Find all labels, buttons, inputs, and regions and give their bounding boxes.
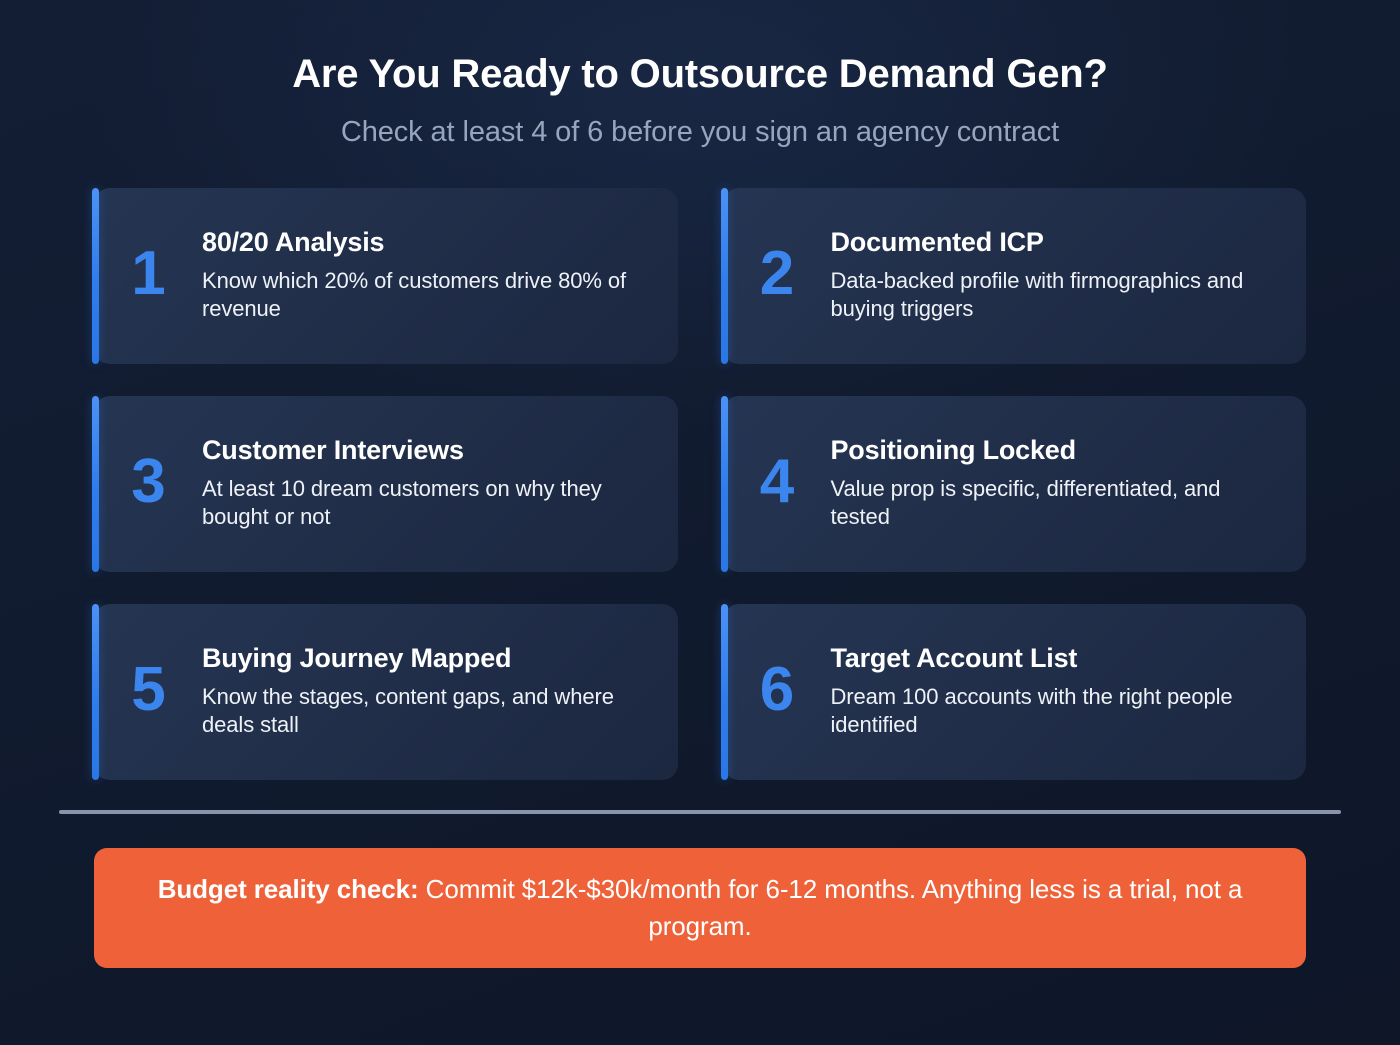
header: Are You Ready to Outsource Demand Gen? C… <box>0 0 1400 150</box>
card-title: Positioning Locked <box>831 435 1277 466</box>
card-body: Buying Journey Mapped Know the stages, c… <box>202 643 654 740</box>
budget-banner: Budget reality check: Commit $12k-$30k/m… <box>94 848 1306 968</box>
card-body: Documented ICP Data-backed profile with … <box>831 227 1283 324</box>
checklist-grid: 1 80/20 Analysis Know which 20% of custo… <box>94 188 1306 780</box>
card-number: 3 <box>94 451 202 517</box>
checklist-card-6[interactable]: 6 Target Account List Dream 100 accounts… <box>723 604 1307 780</box>
page-subtitle: Check at least 4 of 6 before you sign an… <box>0 115 1400 150</box>
card-number: 6 <box>723 659 831 725</box>
card-number: 2 <box>723 243 831 309</box>
accent-bar-icon <box>721 604 728 780</box>
page-title: Are You Ready to Outsource Demand Gen? <box>0 52 1400 97</box>
card-title: Buying Journey Mapped <box>202 643 648 674</box>
card-description: Dream 100 accounts with the right people… <box>831 683 1277 740</box>
card-description: Data-backed profile with firmographics a… <box>831 267 1277 324</box>
checklist-card-4[interactable]: 4 Positioning Locked Value prop is speci… <box>723 396 1307 572</box>
card-body: Customer Interviews At least 10 dream cu… <box>202 435 654 532</box>
card-description: At least 10 dream customers on why they … <box>202 475 648 532</box>
card-title: Customer Interviews <box>202 435 648 466</box>
banner-text: Budget reality check: Commit $12k-$30k/m… <box>128 871 1272 945</box>
accent-bar-icon <box>92 396 99 572</box>
banner-wrap: Budget reality check: Commit $12k-$30k/m… <box>0 848 1400 968</box>
banner-body: Commit $12k-$30k/month for 6-12 months. … <box>419 874 1243 941</box>
accent-bar-icon <box>721 188 728 364</box>
card-number: 5 <box>94 659 202 725</box>
section-divider <box>59 810 1341 814</box>
card-description: Know the stages, content gaps, and where… <box>202 683 648 740</box>
card-number: 4 <box>723 451 831 517</box>
accent-bar-icon <box>92 604 99 780</box>
card-number: 1 <box>94 243 202 309</box>
checklist-card-3[interactable]: 3 Customer Interviews At least 10 dream … <box>94 396 678 572</box>
card-title: Target Account List <box>831 643 1277 674</box>
accent-bar-icon <box>721 396 728 572</box>
banner-label: Budget reality check: <box>158 874 419 904</box>
card-title: 80/20 Analysis <box>202 227 648 258</box>
card-description: Know which 20% of customers drive 80% of… <box>202 267 648 324</box>
divider-wrap <box>0 810 1400 814</box>
card-body: Positioning Locked Value prop is specifi… <box>831 435 1283 532</box>
card-body: 80/20 Analysis Know which 20% of custome… <box>202 227 654 324</box>
accent-bar-icon <box>92 188 99 364</box>
infographic-page: Are You Ready to Outsource Demand Gen? C… <box>0 0 1400 1045</box>
checklist-card-1[interactable]: 1 80/20 Analysis Know which 20% of custo… <box>94 188 678 364</box>
checklist-card-5[interactable]: 5 Buying Journey Mapped Know the stages,… <box>94 604 678 780</box>
card-description: Value prop is specific, differentiated, … <box>831 475 1277 532</box>
card-body: Target Account List Dream 100 accounts w… <box>831 643 1283 740</box>
checklist-card-2[interactable]: 2 Documented ICP Data-backed profile wit… <box>723 188 1307 364</box>
card-title: Documented ICP <box>831 227 1277 258</box>
